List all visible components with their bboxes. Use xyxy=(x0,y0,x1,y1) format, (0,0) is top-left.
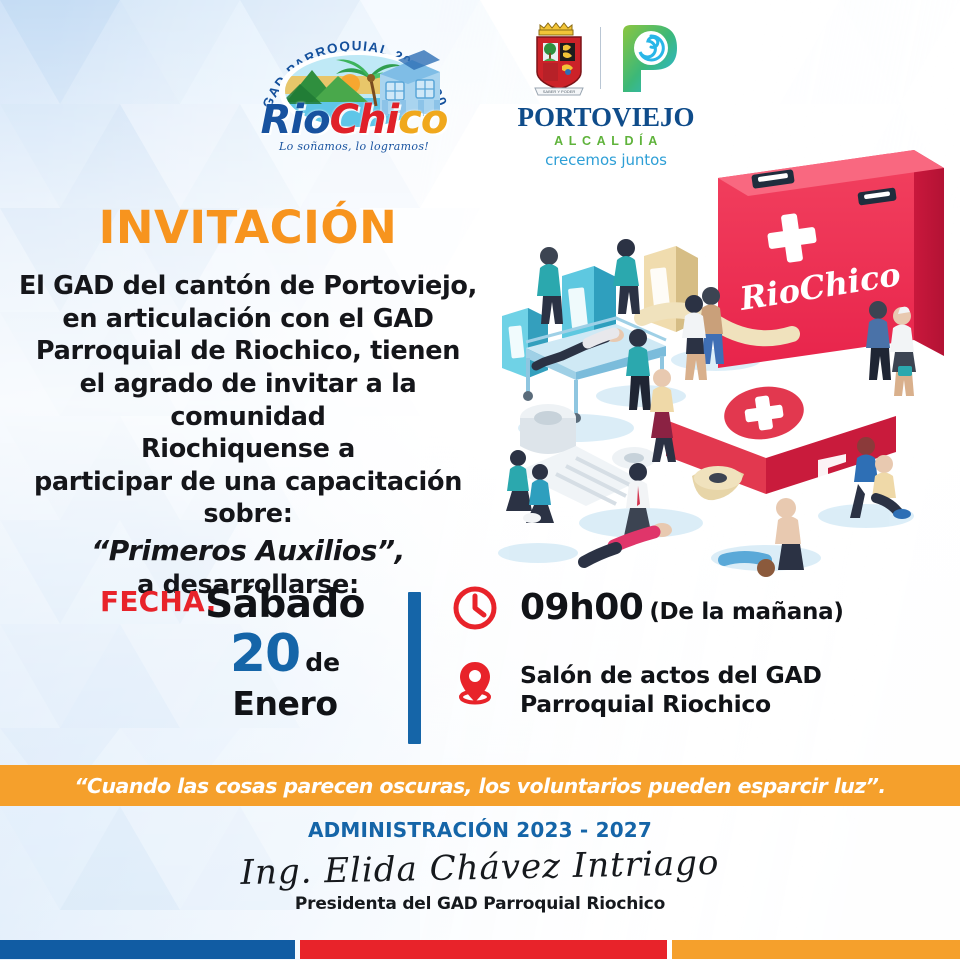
time-row: 09h00(De la mañana) xyxy=(452,585,922,631)
riochico-logo: GAD PARROQUIAL 2023 - 2027 xyxy=(254,14,454,164)
month-name: Enero xyxy=(175,684,395,723)
portoviejo-p-mark-icon xyxy=(615,22,681,94)
body-line-6: sobre: xyxy=(18,498,478,531)
coat-of-arms-motto: SABER Y PODER xyxy=(542,89,575,94)
course-topic: “Primeros Auxilios”, xyxy=(18,533,478,569)
time-note: (De la mañana) xyxy=(649,599,843,625)
header-logos: GAD PARROQUIAL 2023 - 2027 xyxy=(0,14,960,164)
color-bar-blue xyxy=(0,940,295,959)
portoviejo-tagline: crecemos juntos xyxy=(506,151,706,169)
body-line-1: en articulación con el GAD xyxy=(18,303,478,336)
portoviejo-name: PORTOVIEJO xyxy=(506,104,706,131)
riochico-word-chi: Chi xyxy=(330,97,399,143)
body-line-3: el agrado de invitar a la comunidad xyxy=(18,368,478,433)
color-bar-red xyxy=(300,940,667,959)
footer-color-bars xyxy=(0,940,960,959)
day-name: Sábado xyxy=(175,585,395,626)
body-line-0: El GAD del cantón de Portoviejo, xyxy=(18,270,478,303)
logo-divider xyxy=(600,27,601,89)
map-pin-icon xyxy=(452,659,498,705)
portoviejo-coat-of-arms-icon: SABER Y PODER xyxy=(532,20,586,96)
portoviejo-subtitle: ALCALDÍA xyxy=(511,134,706,148)
day-connector: de xyxy=(305,648,340,677)
time-text: 09h00(De la mañana) xyxy=(520,585,844,628)
place-line-1: Salón de actos del GAD xyxy=(520,661,822,690)
place-text: Salón de actos del GAD Parroquial Riochi… xyxy=(520,659,822,720)
page-title: INVITACIÓN xyxy=(18,205,478,250)
place-row: Salón de actos del GAD Parroquial Riochi… xyxy=(452,659,922,720)
event-details: FECHA: Sábado 20de Enero 09h00(De la mañ… xyxy=(0,585,960,755)
riochico-wordmark: RioChico xyxy=(254,100,454,140)
day-number-row: 20de xyxy=(175,628,395,680)
time-place-block: 09h00(De la mañana) Salón de actos del G… xyxy=(452,585,922,720)
signature: Ing. Elida Chávez Intriago xyxy=(0,838,960,898)
body-line-5: participar de una capacitación xyxy=(18,466,478,499)
place-line-2: Parroquial Riochico xyxy=(520,690,822,719)
date-value-block: Sábado 20de Enero xyxy=(175,585,395,723)
clock-icon xyxy=(452,585,498,631)
administration-label: ADMINISTRACIÓN 2023 - 2027 xyxy=(0,818,960,842)
signatory-role: Presidenta del GAD Parroquial Riochico xyxy=(0,894,960,914)
day-number: 20 xyxy=(230,624,300,684)
footer: ADMINISTRACIÓN 2023 - 2027 Ing. Elida Ch… xyxy=(0,818,960,914)
quote-banner: “Cuando las cosas parecen oscuras, los v… xyxy=(0,765,960,806)
riochico-word-rio: Rio xyxy=(261,97,330,143)
invitation-text-block: INVITACIÓN El GAD del cantón de Portovie… xyxy=(18,205,478,601)
poster-canvas: GAD PARROQUIAL 2023 - 2027 xyxy=(0,0,960,960)
portoviejo-logo: SABER Y PODER PORTOV xyxy=(506,14,706,164)
invitation-body: El GAD del cantón de Portoviejo, en arti… xyxy=(18,270,478,601)
color-bar-orange xyxy=(672,940,960,959)
vertical-divider xyxy=(408,592,421,744)
first-aid-illustration: RioChico xyxy=(466,128,956,588)
quote-text: “Cuando las cosas parecen oscuras, los v… xyxy=(74,774,885,798)
riochico-slogan: Lo soñamos, lo logramos! xyxy=(254,140,454,153)
body-line-2: Parroquial de Riochico, tienen xyxy=(18,335,478,368)
time-value: 09h00 xyxy=(520,587,643,628)
body-line-4: Riochiquense a xyxy=(18,433,478,466)
riochico-word-co: co xyxy=(398,97,447,143)
